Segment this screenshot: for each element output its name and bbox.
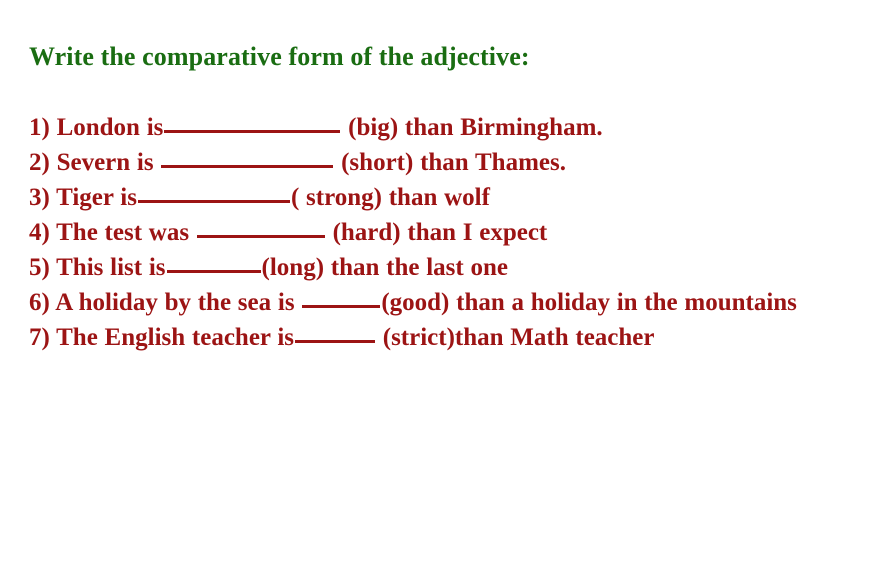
exercise-number-7: 7) — [29, 324, 50, 351]
exercise-list: 1) London is (big) than Birmingham. 2) S… — [29, 110, 859, 355]
answer-blank-4[interactable] — [197, 219, 325, 238]
exercise-number-1: 1) — [29, 114, 50, 141]
slide-canvas: Write the comparative form of the adject… — [0, 0, 881, 562]
exercise-item-2: 2) Severn is (short) than Thames. — [29, 145, 859, 180]
answer-blank-3[interactable] — [138, 184, 290, 203]
page-title: Write the comparative form of the adject… — [29, 40, 859, 74]
exercise-text-after-5: (long) than the last one — [262, 254, 508, 281]
exercise-item-6: 6) A holiday by the sea is (good) than a… — [29, 285, 859, 320]
exercise-text-after-2: (short) than Thames. — [334, 149, 566, 176]
exercise-item-4: 4) The test was (hard) than I expect — [29, 215, 859, 250]
exercise-text-before-3: Tiger is — [50, 184, 137, 211]
exercise-number-2: 2) — [29, 149, 50, 176]
exercise-text-before-5: This list is — [50, 254, 166, 281]
exercise-text-before-1: London is — [50, 114, 164, 141]
answer-blank-1[interactable] — [164, 114, 340, 133]
exercise-text-after-4: (hard) than I expect — [326, 219, 547, 246]
exercise-text-after-1: (big) than Birmingham. — [341, 114, 602, 141]
exercise-text-after-6: (good) than a holiday in the mountains — [381, 289, 797, 316]
exercise-number-5: 5) — [29, 254, 50, 281]
exercise-text-before-6: A holiday by the sea is — [50, 289, 301, 316]
exercise-text-after-3: ( strong) than wolf — [291, 184, 490, 211]
worksheet-content: Write the comparative form of the adject… — [29, 40, 859, 355]
title-body-spacer — [29, 84, 859, 110]
exercise-item-5: 5) This list is(long) than the last one — [29, 250, 859, 285]
exercise-text-before-4: The test was — [50, 219, 196, 246]
exercise-item-1: 1) London is (big) than Birmingham. — [29, 110, 859, 145]
exercise-text-after-7: (strict)than Math teacher — [376, 324, 655, 351]
exercise-number-4: 4) — [29, 219, 50, 246]
answer-blank-5[interactable] — [167, 254, 261, 273]
exercise-number-3: 3) — [29, 184, 50, 211]
answer-blank-7[interactable] — [295, 324, 375, 343]
exercise-text-before-7: The English teacher is — [50, 324, 294, 351]
answer-blank-2[interactable] — [161, 149, 333, 168]
exercise-text-before-2: Severn is — [50, 149, 161, 176]
exercise-item-3: 3) Tiger is( strong) than wolf — [29, 180, 859, 215]
exercise-item-7: 7) The English teacher is (strict)than M… — [29, 320, 859, 355]
exercise-number-6: 6) — [29, 289, 50, 316]
answer-blank-6[interactable] — [302, 289, 380, 308]
